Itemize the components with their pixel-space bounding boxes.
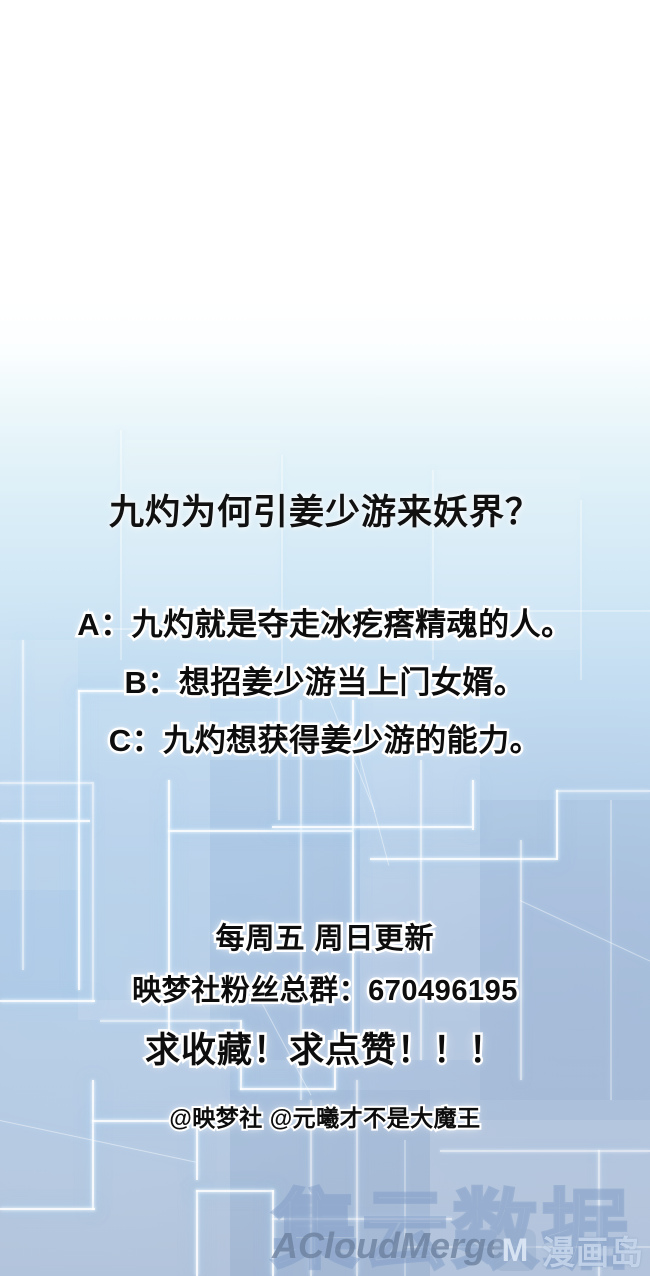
call-to-action: 求收藏！求点赞！！！ (0, 1020, 650, 1082)
quiz-title: 九灼为何引姜少游来妖界？ (0, 484, 650, 535)
credits-line: @映梦社 @元曦才不是大魔王 (0, 1082, 650, 1154)
quiz-option-c[interactable]: C：九灼想获得姜少游的能力。 (0, 712, 650, 770)
comic-quiz-page: 九灼为何引姜少游来妖界？ A：九灼就是夺走冰疙瘩精魂的人。 B：想招姜少游当上门… (0, 0, 650, 1276)
update-schedule: 每周五 周日更新 (0, 916, 650, 962)
footer-block: 每周五 周日更新 映梦社粉丝总群：670496195 求收藏！求点赞！！！ @映… (0, 916, 650, 1154)
quiz-options-list: A：九灼就是夺走冰疙瘩精魂的人。 B：想招姜少游当上门女婿。 C：九灼想获得姜少… (0, 596, 650, 770)
quiz-content: 九灼为何引姜少游来妖界？ A：九灼就是夺走冰疙瘩精魂的人。 B：想招姜少游当上门… (0, 0, 650, 1276)
quiz-option-b[interactable]: B：想招姜少游当上门女婿。 (0, 654, 650, 712)
fan-group-info: 映梦社粉丝总群：670496195 (0, 962, 650, 1020)
quiz-option-a[interactable]: A：九灼就是夺走冰疙瘩精魂的人。 (0, 596, 650, 654)
